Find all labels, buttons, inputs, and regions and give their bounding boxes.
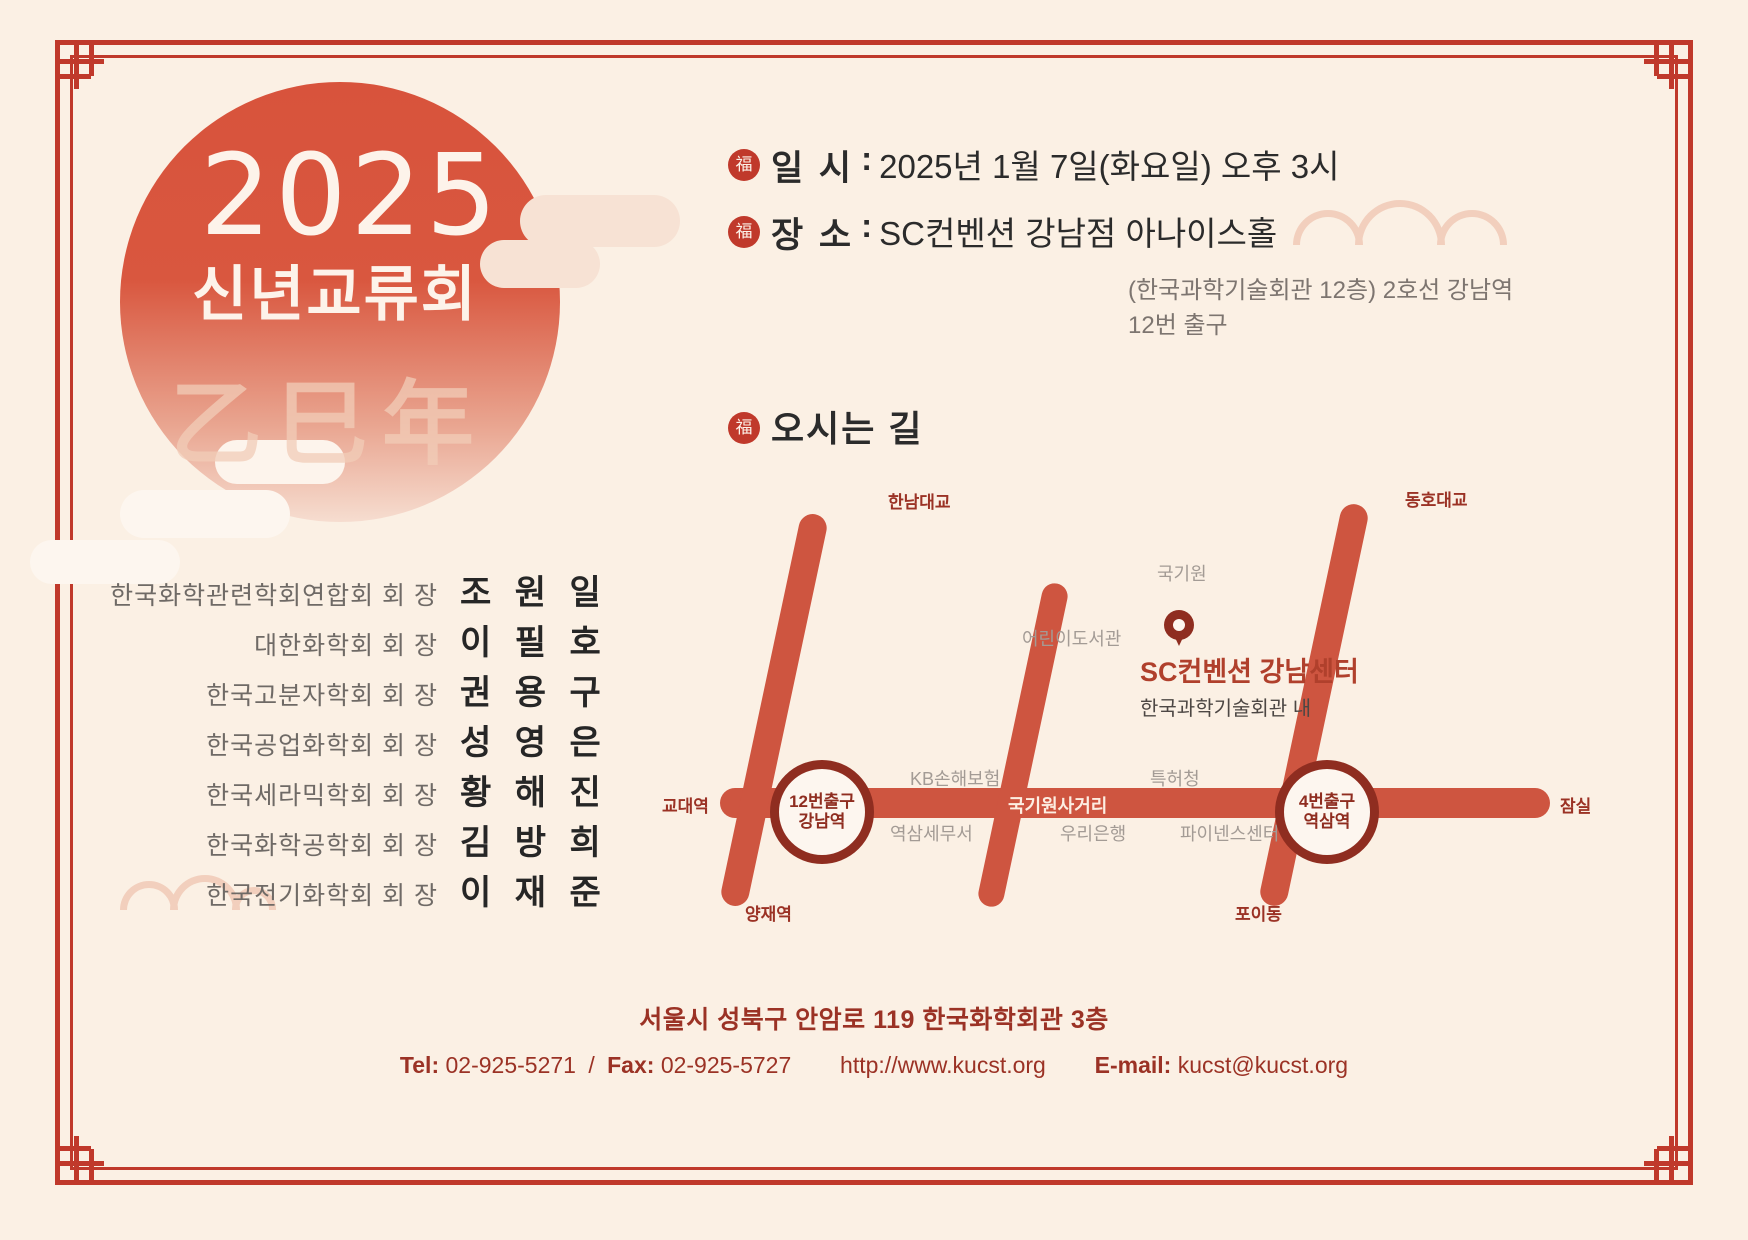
person-name: 권 용 구: [460, 665, 590, 714]
page-title-year: 2025: [200, 140, 501, 252]
directions-heading: 福 오시는 길: [728, 400, 923, 452]
map-label-yangjae-station: 양재역: [745, 900, 792, 925]
station-yeoksam[interactable]: 4번출구 역삼역: [1275, 760, 1379, 864]
map-label-patent-office: 특허청: [1150, 765, 1200, 791]
date-colon: :: [861, 140, 872, 178]
corner-ornament-top-right: [1630, 43, 1690, 103]
organization-name: 한국고분자학회 회 장: [206, 676, 438, 712]
footer: 서울시 성북구 안암로 119 한국화학회관 3층 Tel: 02-925-52…: [0, 1000, 1748, 1079]
list-item: 대한화학회 회 장 이 필 호: [110, 615, 590, 665]
corner-ornament-bottom-left: [58, 1122, 118, 1182]
separator: /: [588, 1052, 594, 1078]
bok-icon: 福: [728, 412, 760, 444]
poster: 乙巳年 2025 신년교류회 福 일 시 : 2025년 1월 7일(화요일) …: [0, 0, 1748, 1240]
location-map: 한남대교 동호대교 국기원 어린이도서관 KB손해보험 역삼세무서 우리은행 특…: [640, 470, 1620, 940]
event-info: 福 일 시 : 2025년 1월 7일(화요일) 오후 3시 福 장 소 : S…: [728, 140, 1528, 340]
list-item: 한국화학관련학회연합회 회 장 조 원 일: [110, 565, 590, 615]
organization-name: 한국화학공학회 회 장: [206, 826, 438, 862]
place-value: SC컨벤션 강남점 아나이스홀: [879, 207, 1277, 255]
map-label-woori-bank: 우리은행: [1060, 820, 1126, 846]
directions-title: 오시는 길: [771, 400, 923, 452]
station-name-label: 역삼역: [1304, 812, 1351, 832]
map-pin-icon: [1164, 610, 1194, 640]
year-watermark: 乙巳年: [170, 350, 530, 483]
person-name: 성 영 은: [460, 715, 590, 764]
date-value: 2025년 1월 7일(화요일) 오후 3시: [879, 140, 1339, 188]
venue-sub: 한국과학기술회관 내: [1140, 692, 1359, 721]
corner-ornament-top-left: [58, 43, 118, 103]
list-item: 한국전기화학회 회 장 이 재 준: [110, 865, 590, 915]
map-label-kukkiwon-intersection: 국기원사거리: [1008, 792, 1107, 818]
tel-label: Tel:: [400, 1052, 439, 1078]
station-exit-label: 4번출구: [1299, 792, 1355, 812]
map-label-jamsil: 잠실: [1560, 792, 1591, 817]
map-label-finance-center: 파이넨스센터: [1180, 820, 1279, 846]
venue-name: SC컨벤션 강남센터: [1140, 650, 1359, 689]
map-label-childrens-library: 어린이도서관: [1022, 625, 1121, 651]
venue-callout: SC컨벤션 강남센터 한국과학기술회관 내: [1140, 650, 1359, 721]
footer-contact-line: Tel: 02-925-5271 / Fax: 02-925-5727 http…: [0, 1052, 1748, 1079]
person-name: 이 재 준: [460, 865, 590, 914]
info-row-date: 福 일 시 : 2025년 1월 7일(화요일) 오후 3시: [728, 140, 1528, 191]
list-item: 한국화학공학회 회 장 김 방 희: [110, 815, 590, 865]
organization-name: 한국세라믹학회 회 장: [206, 776, 438, 812]
place-sub-value: (한국과학기술회관 12층) 2호선 강남역 12번 출구: [1128, 270, 1528, 340]
email-link[interactable]: kucst@kucst.org: [1178, 1052, 1348, 1078]
bok-icon: 福: [728, 149, 760, 181]
date-label: 일 시: [771, 140, 854, 191]
map-label-poidong: 포이동: [1235, 900, 1282, 925]
fax-label: Fax:: [607, 1052, 654, 1078]
map-label-kukkiwon: 국기원: [1157, 560, 1207, 586]
page-title-subtitle: 신년교류회: [192, 265, 478, 325]
map-label-hannam-bridge: 한남대교: [888, 488, 951, 513]
place-label: 장 소: [771, 207, 854, 258]
cloud-decoration: [120, 490, 290, 538]
person-name: 이 필 호: [460, 615, 590, 664]
organization-name: 한국전기화학회 회 장: [206, 876, 438, 912]
map-label-yeoksam-tax-office: 역삼세무서: [890, 820, 973, 846]
person-name: 김 방 희: [460, 815, 590, 864]
station-exit-label: 12번출구: [789, 792, 855, 812]
info-row-place: 福 장 소 : SC컨벤션 강남점 아나이스홀: [728, 207, 1528, 258]
presidents-list: 한국화학관련학회연합회 회 장 조 원 일 대한화학회 회 장 이 필 호 한국…: [110, 565, 590, 915]
bok-icon: 福: [728, 216, 760, 248]
fax-value: 02-925-5727: [661, 1052, 791, 1078]
footer-address: 서울시 성북구 안암로 119 한국화학회관 3층: [0, 1000, 1748, 1036]
list-item: 한국세라믹학회 회 장 황 해 진: [110, 765, 590, 815]
organization-name: 한국공업화학회 회 장: [206, 726, 438, 762]
organization-name: 한국화학관련학회연합회 회 장: [110, 576, 438, 612]
list-item: 한국고분자학회 회 장 권 용 구: [110, 665, 590, 715]
map-label-gyodae-station: 교대역: [662, 792, 709, 817]
station-name-label: 강남역: [799, 812, 846, 832]
person-name: 조 원 일: [460, 565, 590, 614]
map-label-dongho-bridge: 동호대교: [1405, 486, 1468, 511]
organization-name: 대한화학회 회 장: [254, 626, 438, 662]
place-colon: :: [861, 207, 872, 245]
website-link[interactable]: http://www.kucst.org: [840, 1052, 1046, 1078]
station-gangnam[interactable]: 12번출구 강남역: [770, 760, 874, 864]
map-label-kb-insurance: KB손해보험: [910, 765, 1000, 791]
corner-ornament-bottom-right: [1630, 1122, 1690, 1182]
tel-value: 02-925-5271: [446, 1052, 576, 1078]
list-item: 한국공업화학회 회 장 성 영 은: [110, 715, 590, 765]
email-label: E-mail:: [1095, 1052, 1172, 1078]
person-name: 황 해 진: [460, 765, 590, 814]
